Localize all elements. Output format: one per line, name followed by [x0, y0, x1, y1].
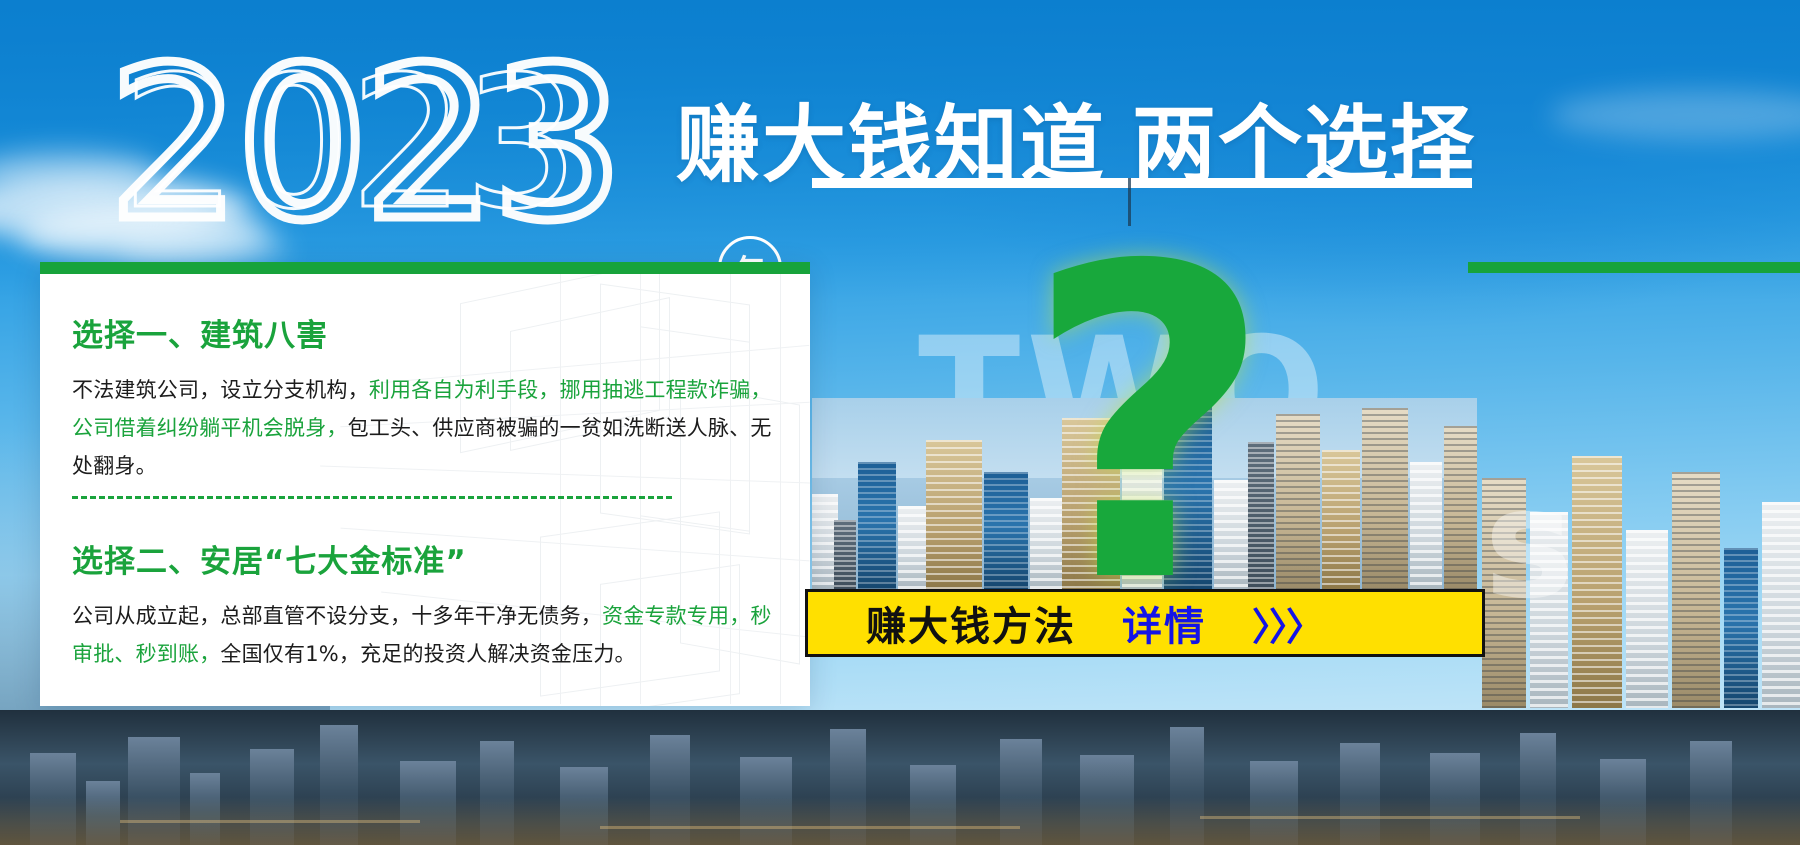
card-section-1: 选择一、建筑八害 不法建筑公司，设立分支机构，利用各自为利手段，挪用抽逃工程款诈…	[72, 310, 778, 485]
card-section-2: 选择二、安居“七大金标准” 公司从成立起，总部直管不设分支，十多年干净无债务，资…	[72, 536, 782, 673]
right-green-bar	[1468, 262, 1800, 273]
section-2-body: 公司从成立起，总部直管不设分支，十多年干净无债务，资金专款专用，秒审批、秒到账，…	[72, 597, 782, 673]
section-1-text-a: 不法建筑公司，设立分支机构，	[72, 378, 369, 402]
headline-underline-tick	[1128, 178, 1131, 226]
section-2-text-a: 公司从成立起，总部直管不设分支，十多年干净无债务，	[72, 604, 602, 628]
cloud-icon	[120, 232, 290, 266]
section-2-text-c: 全国仅有1%，充足的投资人解决资金压力。	[220, 642, 635, 666]
poster-stage: 2023 2023 年 赚大钱知道两个选择 TWO choices ?	[0, 0, 1800, 845]
cta-details-link[interactable]: 详情	[1122, 594, 1206, 652]
section-1-body: 不法建筑公司，设立分支机构，利用各自为利手段，挪用抽逃工程款诈骗，公司借着纠纷躺…	[72, 371, 778, 485]
cta-main-label: 赚大钱方法	[866, 594, 1076, 652]
cta-banner[interactable]: 赚大钱方法 详情 〉〉〉	[805, 589, 1485, 657]
section-divider	[72, 496, 672, 499]
content-card: 选择一、建筑八害 不法建筑公司，设立分支机构，利用各自为利手段，挪用抽逃工程款诈…	[40, 262, 810, 706]
bottom-city-band	[0, 710, 1800, 845]
section-2-title: 选择二、安居“七大金标准”	[72, 536, 782, 581]
chevron-right-icon: 〉〉〉	[1252, 596, 1322, 651]
right-city-photo	[1478, 418, 1800, 708]
section-1-title: 选择一、建筑八害	[72, 310, 778, 355]
headline-underline	[812, 178, 1472, 188]
city-photo-strip	[812, 398, 1477, 590]
card-top-green-bar	[40, 262, 810, 274]
